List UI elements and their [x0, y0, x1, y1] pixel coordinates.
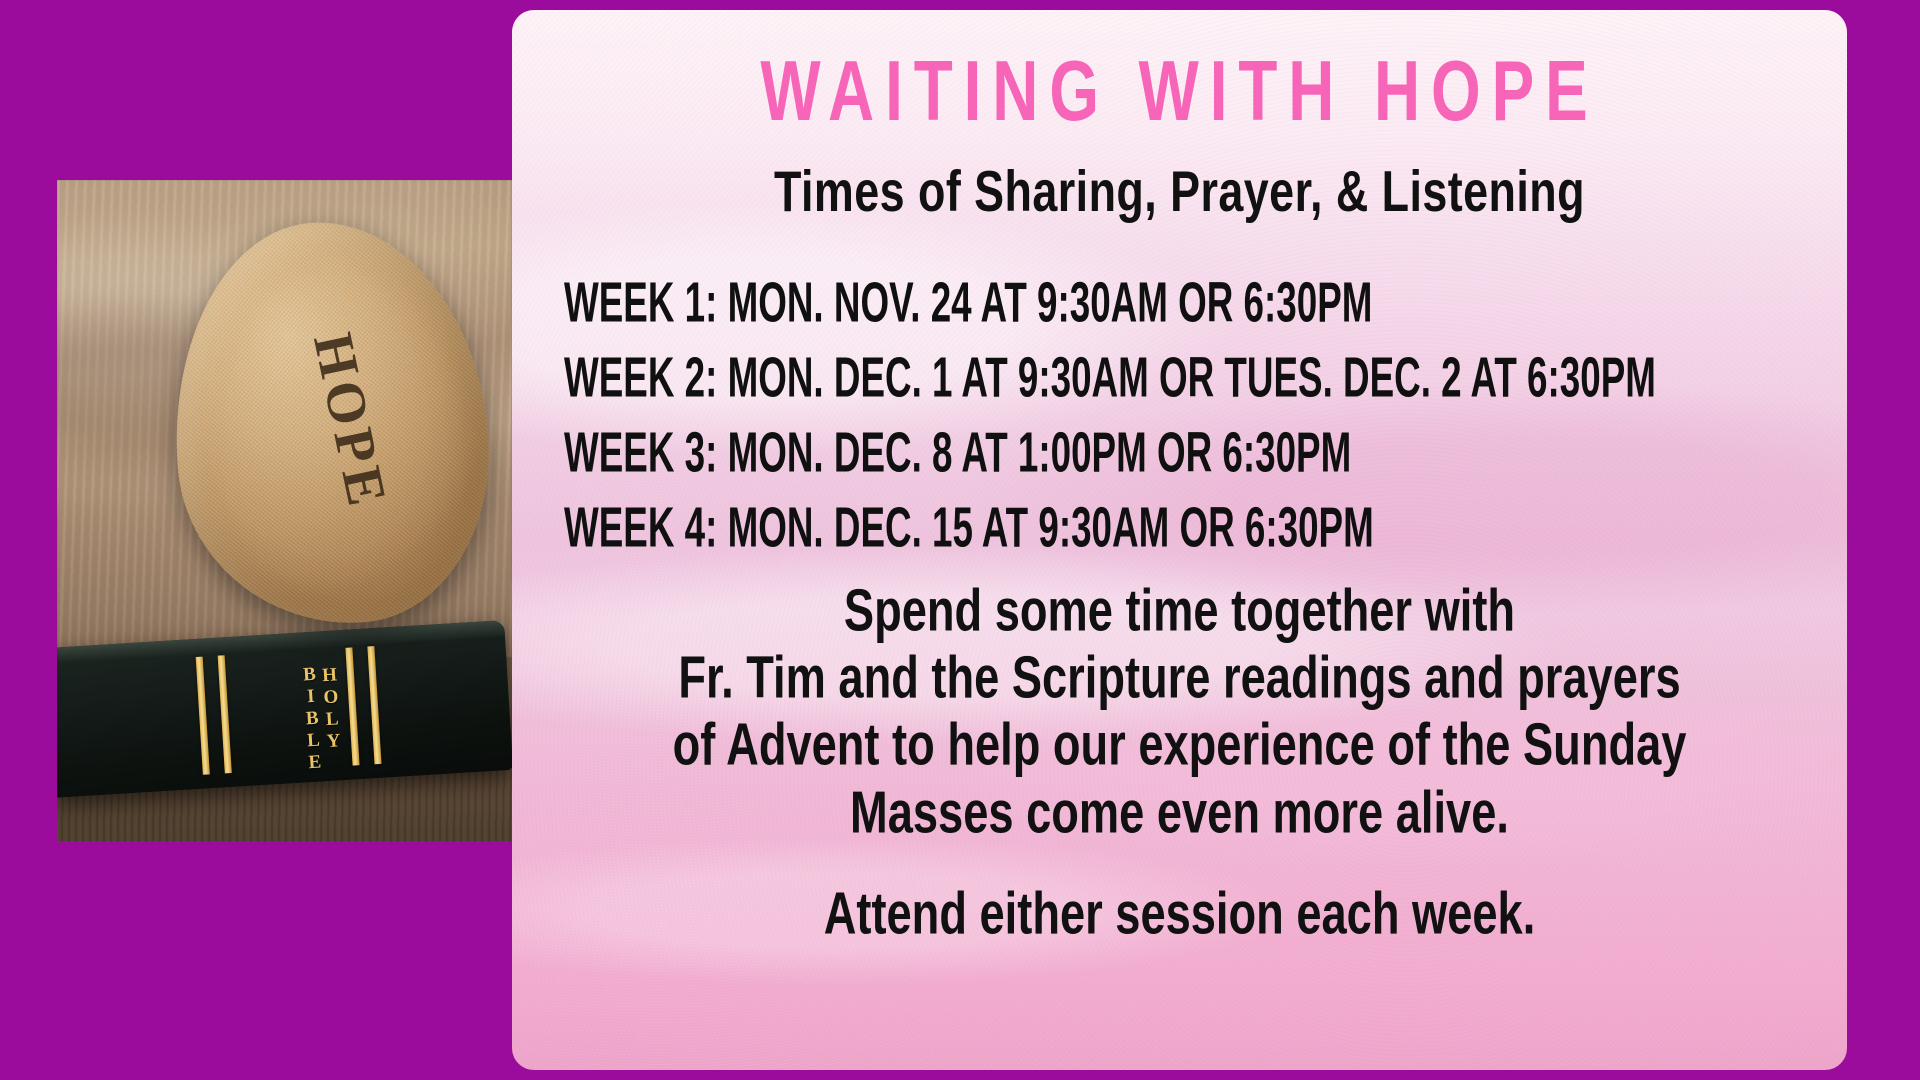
announcement-card: WAITING WITH HOPE Times of Sharing, Pray… [512, 10, 1847, 1070]
page-title: WAITING WITH HOPE [637, 49, 1721, 134]
bible-gold-band [367, 646, 381, 764]
burlap-heart: HOPE [161, 212, 500, 635]
schedule-item-week-2: WEEK 2: MON. DEC. 1 AT 9:30AM OR TUES. D… [564, 349, 1573, 405]
bible-spine-text: HOLY BIBLE [238, 662, 343, 760]
description-paragraph: Spend some time together with Fr. Tim an… [534, 582, 1825, 842]
schedule-item-week-1: WEEK 1: MON. NOV. 24 AT 9:30AM OR 6:30PM [564, 274, 1573, 330]
closing-note: Attend either session each week. [618, 884, 1741, 943]
description-line: Masses come even more alive. [618, 780, 1741, 846]
schedule-item-week-3: WEEK 3: MON. DEC. 8 AT 1:00PM OR 6:30PM [564, 424, 1573, 480]
bible-gold-band [196, 657, 210, 775]
schedule-list: WEEK 1: MON. NOV. 24 AT 9:30AM OR 6:30PM… [534, 279, 1825, 550]
bible-gold-band [345, 647, 359, 765]
holy-bible-book: HOLY BIBLE [57, 620, 512, 798]
description-line: Fr. Tim and the Scripture readings and p… [618, 645, 1741, 711]
description-line: of Advent to help our experience of the … [618, 712, 1741, 778]
card-content: WAITING WITH HOPE Times of Sharing, Pray… [512, 54, 1847, 940]
bible-gold-band [218, 655, 232, 773]
hope-photo: HOLY BIBLE HOPE [57, 180, 512, 842]
description-line: Spend some time together with [618, 578, 1741, 644]
schedule-item-week-4: WEEK 4: MON. DEC. 15 AT 9:30AM OR 6:30PM [564, 499, 1573, 555]
page-subtitle: Times of Sharing, Prayer, & Listening [611, 163, 1747, 220]
